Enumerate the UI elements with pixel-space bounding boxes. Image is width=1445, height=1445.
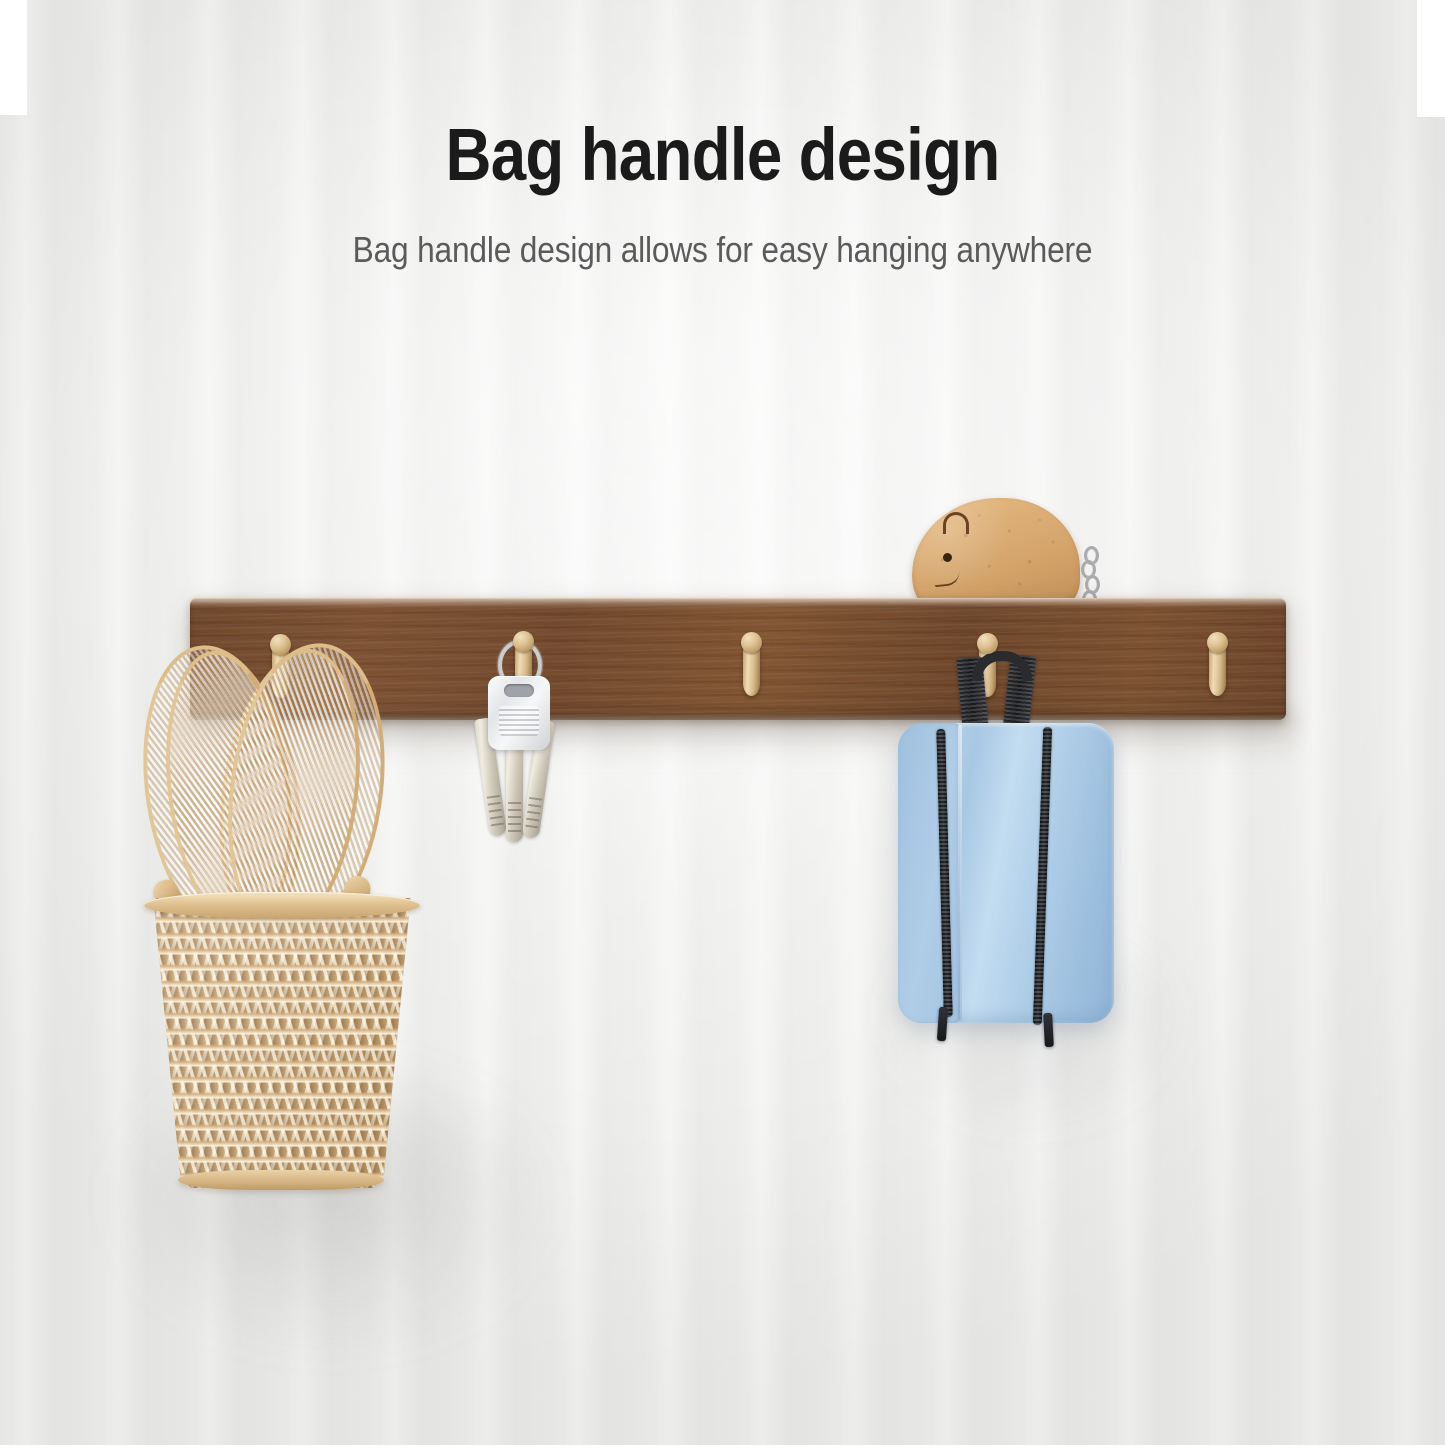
house-keys-bunch[interactable] [468,640,578,860]
wooden-mouse-keychain [912,498,1094,610]
basket-rim [144,892,420,918]
pouch-zipper-pull-left[interactable] [937,1007,948,1042]
key-fob-emboss [499,706,539,736]
key-fob [488,676,550,750]
product-photo-scene [0,0,1445,1445]
peg-knob [1207,632,1228,653]
peg-knob [741,632,762,653]
basket-mesh-weave [148,898,416,1188]
hook-peg-5[interactable] [1202,632,1232,702]
peg-knob [513,631,534,652]
pouch-zipper-pull-right[interactable] [1043,1013,1054,1047]
mouse-eye-icon [943,553,952,562]
peg-knob [270,634,291,655]
rail-top-highlight [190,598,1286,607]
basket-bottom-rim [178,1170,384,1190]
peg-knob [977,633,998,654]
product-feature-image: Bag handle design Bag handle design allo… [0,0,1445,1445]
mouse-body [912,498,1080,608]
pouch-gusset-seam [958,725,962,1021]
blue-travel-pouch[interactable] [898,645,1114,1045]
basket-body [148,898,416,1188]
hook-peg-3[interactable] [736,632,766,702]
mouse-wood-speckle [912,498,1080,608]
mouse-ear-icon [943,512,969,534]
key-fob-hole [504,684,534,697]
woven-straw-basket-bag[interactable] [130,630,430,1220]
